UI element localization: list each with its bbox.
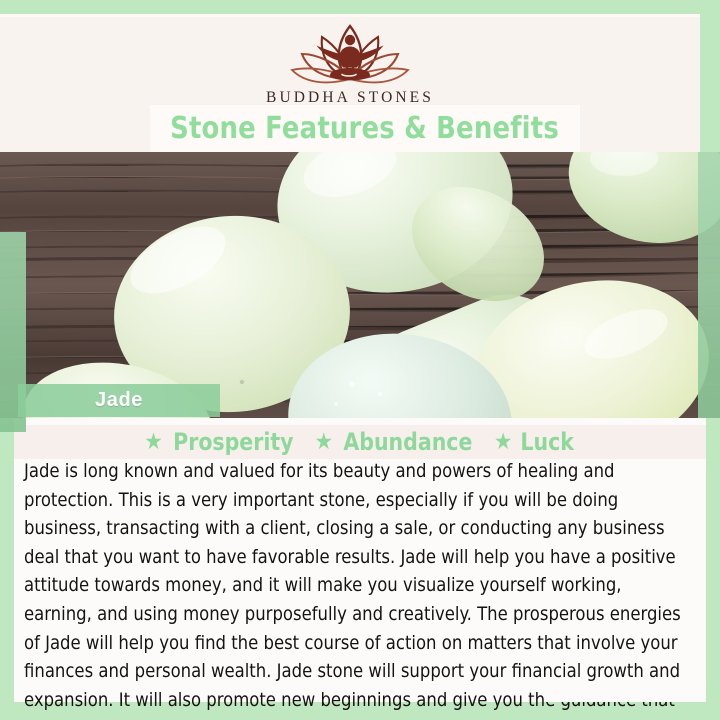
- benefit-label: Luck: [521, 428, 574, 456]
- brand-logo: BUDDHA STONES: [0, 18, 700, 118]
- lotus-meditation-icon: [288, 18, 412, 88]
- star-icon: ★: [144, 431, 163, 454]
- stone-name-band: Jade: [18, 384, 220, 417]
- content-panel: ★ Prosperity ★ Abundance ★ Luck Jade is …: [14, 418, 706, 702]
- benefit-item-prosperity: ★ Prosperity: [144, 428, 296, 456]
- benefit-item-luck: ★ Luck: [494, 428, 576, 456]
- star-icon: ★: [494, 431, 513, 454]
- title-band: Stone Features & Benefits: [150, 105, 580, 152]
- benefit-label: Prosperity: [173, 428, 293, 456]
- benefit-item-abundance: ★ Abundance: [315, 428, 476, 456]
- star-icon: ★: [315, 431, 334, 454]
- decorative-strip-right: [698, 152, 720, 418]
- stone-name: Jade: [18, 389, 220, 412]
- benefits-row: ★ Prosperity ★ Abundance ★ Luck: [14, 425, 706, 459]
- stone-description: Jade is long known and valued for its be…: [24, 458, 690, 720]
- benefit-label: Abundance: [344, 428, 473, 456]
- stone-photo: [0, 152, 720, 418]
- page-title: Stone Features & Benefits: [171, 111, 560, 146]
- infographic-card: BUDDHA STONES Stone Features & Benefits: [0, 0, 720, 720]
